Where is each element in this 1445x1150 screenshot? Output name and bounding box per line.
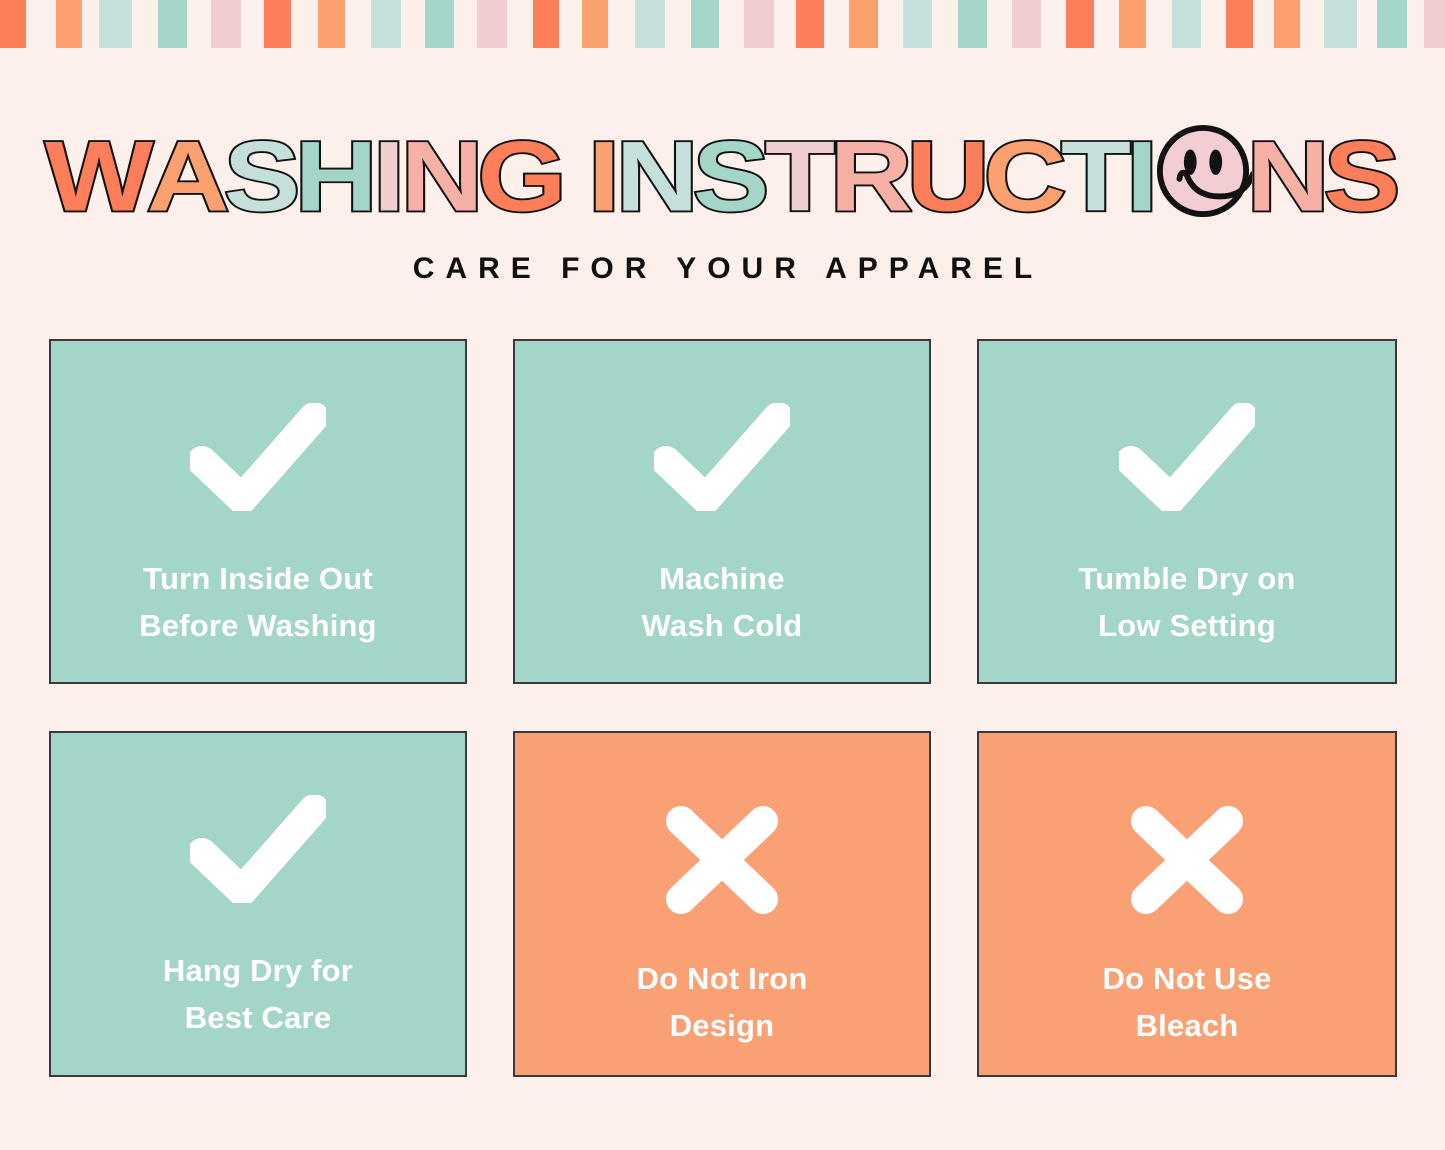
title-letter-12: R bbox=[829, 127, 911, 226]
stripe-8 bbox=[425, 0, 454, 48]
title-letter-16: I bbox=[1127, 127, 1158, 226]
title-letter-2: S bbox=[224, 127, 299, 226]
title-letter-19: S bbox=[1323, 127, 1398, 226]
stripe-15 bbox=[796, 0, 824, 48]
title-letter-0: W bbox=[45, 127, 152, 226]
title-letter-6: G bbox=[478, 127, 566, 226]
stripe-25 bbox=[1324, 0, 1357, 48]
stripe-23 bbox=[1226, 0, 1253, 48]
stripe-18 bbox=[958, 0, 987, 48]
care-card-label-turn-inside-out: Turn Inside Out Before Washing bbox=[51, 555, 465, 649]
stripe-1 bbox=[56, 0, 82, 48]
title-letter-11: T bbox=[765, 127, 834, 226]
top-stripe-band bbox=[0, 0, 1445, 48]
title-letter-10: S bbox=[693, 127, 768, 226]
check-icon bbox=[190, 403, 326, 511]
stripe-12 bbox=[635, 0, 665, 48]
stripe-0 bbox=[0, 0, 26, 48]
stripe-22 bbox=[1172, 0, 1201, 48]
check-icon bbox=[1119, 403, 1255, 511]
page-title: WASHING INSTRUCTI NS bbox=[0, 118, 1445, 230]
header-block: WASHING INSTRUCTI NS CARE FOR YOUR APPAR… bbox=[0, 118, 1445, 286]
stripe-5 bbox=[264, 0, 291, 48]
care-card-label-machine-wash-cold: Machine Wash Cold bbox=[515, 555, 929, 649]
check-icon bbox=[190, 795, 326, 903]
stripe-3 bbox=[158, 0, 187, 48]
stripe-13 bbox=[691, 0, 719, 48]
care-card-do-not-iron: Do Not Iron Design bbox=[513, 731, 931, 1077]
stripe-26 bbox=[1377, 0, 1407, 48]
title-letter-14: C bbox=[983, 127, 1065, 226]
stripe-4 bbox=[211, 0, 241, 48]
stripe-11 bbox=[582, 0, 608, 48]
smiley-face-icon bbox=[1154, 122, 1252, 220]
washing-instructions-poster: WASHING INSTRUCTI NS CARE FOR YOUR APPAR… bbox=[0, 0, 1445, 1150]
title-letter-7 bbox=[563, 127, 591, 226]
stripe-19 bbox=[1012, 0, 1041, 48]
title-letter-13: U bbox=[906, 127, 988, 226]
cross-icon bbox=[663, 805, 781, 915]
care-card-tumble-dry-low: Tumble Dry on Low Setting bbox=[977, 339, 1397, 684]
cross-icon bbox=[1128, 805, 1246, 915]
stripe-2 bbox=[99, 0, 132, 48]
title-letter-9: N bbox=[616, 127, 698, 226]
title-letter-smiley-o bbox=[1154, 122, 1252, 220]
care-card-label-tumble-dry-low: Tumble Dry on Low Setting bbox=[979, 555, 1395, 649]
title-letter-18: N bbox=[1246, 127, 1328, 226]
stripe-20 bbox=[1066, 0, 1094, 48]
stripe-6 bbox=[318, 0, 345, 48]
title-letter-4: I bbox=[374, 127, 405, 226]
stripe-27 bbox=[1424, 0, 1445, 48]
title-letter-15: T bbox=[1061, 127, 1130, 226]
care-card-label-do-not-iron: Do Not Iron Design bbox=[515, 955, 929, 1049]
check-icon bbox=[654, 403, 790, 511]
care-card-turn-inside-out: Turn Inside Out Before Washing bbox=[49, 339, 467, 684]
page-subtitle: CARE FOR YOUR APPAREL bbox=[0, 252, 1445, 286]
title-letter-3: H bbox=[295, 127, 377, 226]
care-card-label-hang-dry: Hang Dry for Best Care bbox=[51, 947, 465, 1041]
title-letter-5: N bbox=[401, 127, 483, 226]
stripe-7 bbox=[371, 0, 401, 48]
stripe-24 bbox=[1274, 0, 1300, 48]
care-card-machine-wash-cold: Machine Wash Cold bbox=[513, 339, 931, 684]
care-card-do-not-bleach: Do Not Use Bleach bbox=[977, 731, 1397, 1077]
stripe-21 bbox=[1119, 0, 1146, 48]
care-instruction-grid: Turn Inside Out Before Washing Machine W… bbox=[49, 339, 1397, 1077]
stripe-16 bbox=[849, 0, 878, 48]
title-letter-1: A bbox=[147, 127, 229, 226]
stripe-14 bbox=[744, 0, 774, 48]
care-card-hang-dry: Hang Dry for Best Care bbox=[49, 731, 467, 1077]
stripe-17 bbox=[903, 0, 932, 48]
care-card-label-do-not-bleach: Do Not Use Bleach bbox=[979, 955, 1395, 1049]
stripe-9 bbox=[477, 0, 507, 48]
stripe-10 bbox=[533, 0, 559, 48]
